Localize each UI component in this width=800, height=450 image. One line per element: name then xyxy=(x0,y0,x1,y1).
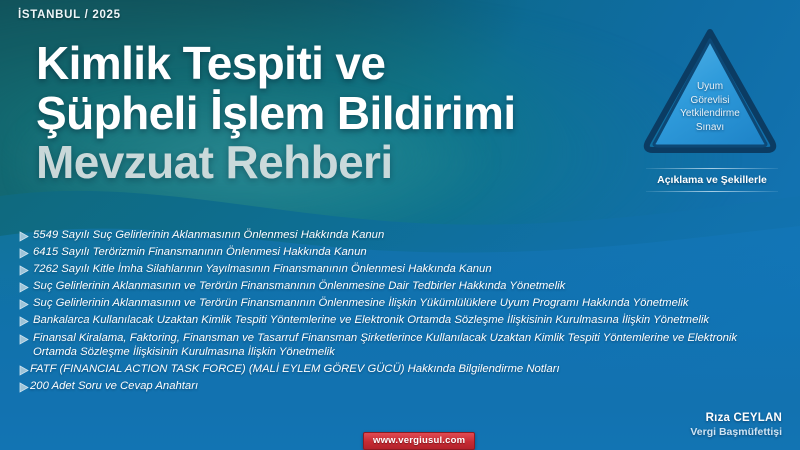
author-name: Rıza CEYLAN xyxy=(690,412,782,424)
triangle-right-icon xyxy=(18,299,30,310)
triangle-right-icon xyxy=(18,382,30,393)
author-signature: Rıza CEYLAN Vergi Başmüfettişi xyxy=(690,412,782,438)
triangle-right-icon xyxy=(18,365,30,376)
subtitle-rule-bottom xyxy=(646,191,778,192)
page-title-line-3: Mevzuat Rehberi xyxy=(36,141,606,185)
contents-list: 5549 Sayılı Suç Gelirlerinin Aklanmasını… xyxy=(18,228,790,396)
badge-line-4: Sınavı xyxy=(640,121,780,135)
list-item-label: 6415 Sayılı Terörizmin Finansmanının Önl… xyxy=(33,245,367,260)
triangle-right-icon xyxy=(18,316,30,327)
list-item: Suç Gelirlerinin Aklanmasının ve Terörün… xyxy=(18,296,790,311)
list-item-label: 200 Adet Soru ve Cevap Anahtarı xyxy=(30,379,198,394)
triangle-right-icon xyxy=(18,282,30,293)
exam-triangle-badge: Uyum Görevlisi Yetkilendirme Sınavı xyxy=(640,24,780,158)
subtitle-text: Açıklama ve Şekillerle xyxy=(646,169,778,191)
list-item-label: Finansal Kiralama, Faktoring, Finansman … xyxy=(33,331,773,360)
list-item: 5549 Sayılı Suç Gelirlerinin Aklanmasını… xyxy=(18,228,790,243)
list-item: 7262 Sayılı Kitle İmha Silahlarının Yayı… xyxy=(18,262,790,277)
list-item-label: Suç Gelirlerinin Aklanmasının ve Terörün… xyxy=(33,279,565,294)
author-role: Vergi Başmüfettişi xyxy=(690,426,782,438)
website-url-badge[interactable]: www.vergiusul.com xyxy=(363,432,475,450)
list-item: 6415 Sayılı Terörizmin Finansmanının Önl… xyxy=(18,245,790,260)
list-item-label: 7262 Sayılı Kitle İmha Silahlarının Yayı… xyxy=(33,262,492,277)
triangle-right-icon xyxy=(18,265,30,276)
page-title-line-1: Kimlik Tespiti ve xyxy=(36,42,606,86)
list-item: Finansal Kiralama, Faktoring, Finansman … xyxy=(18,331,790,360)
triangle-right-icon xyxy=(18,248,30,259)
slide-canvas: İSTANBUL / 2025 Kimlik Tespiti ve Şüphel… xyxy=(0,0,800,450)
slide-eyebrow-location-year: İSTANBUL / 2025 xyxy=(18,9,121,21)
triangle-right-icon xyxy=(18,334,30,345)
list-item: 200 Adet Soru ve Cevap Anahtarı xyxy=(18,379,790,394)
list-item: Bankalarca Kullanılacak Uzaktan Kimlik T… xyxy=(18,313,790,328)
badge-line-2: Görevlisi xyxy=(640,94,780,108)
list-item-label: Bankalarca Kullanılacak Uzaktan Kimlik T… xyxy=(33,313,709,328)
list-item: FATF (FINANCIAL ACTION TASK FORCE) (MALİ… xyxy=(18,362,790,377)
triangle-right-icon xyxy=(18,231,30,242)
badge-line-1: Uyum xyxy=(640,80,780,94)
list-item-label: FATF (FINANCIAL ACTION TASK FORCE) (MALİ… xyxy=(30,362,560,377)
list-item-label: Suç Gelirlerinin Aklanmasının ve Terörün… xyxy=(33,296,689,311)
badge-text-block: Uyum Görevlisi Yetkilendirme Sınavı xyxy=(640,80,780,134)
badge-line-3: Yetkilendirme xyxy=(640,107,780,121)
list-item-label: 5549 Sayılı Suç Gelirlerinin Aklanmasını… xyxy=(33,228,384,243)
subtitle-block: Açıklama ve Şekillerle xyxy=(646,168,778,192)
page-title-line-2: Şüpheli İşlem Bildirimi xyxy=(36,92,606,136)
list-item: Suç Gelirlerinin Aklanmasının ve Terörün… xyxy=(18,279,790,294)
page-title: Kimlik Tespiti ve Şüpheli İşlem Bildirim… xyxy=(36,42,606,185)
